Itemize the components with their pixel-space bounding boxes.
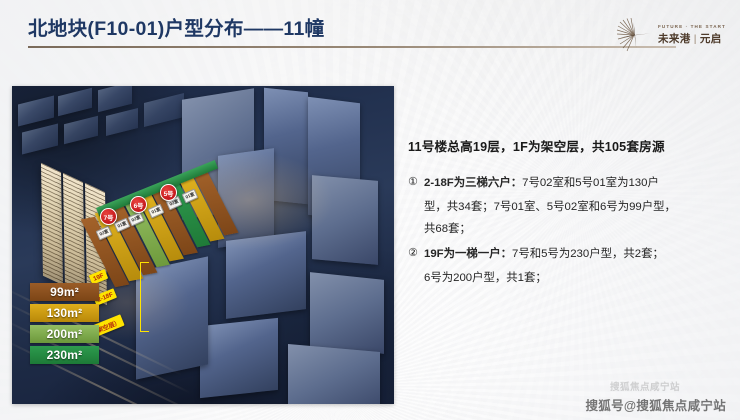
logo-english: FUTURE · THE START <box>658 24 726 29</box>
slide-root: 北地块(F10-01)户型分布——11幢 FUTURE · THE START <box>0 0 740 420</box>
bullet-body-2: 19F为一梯一户：7号和5号为230户型，共2套； <box>424 243 718 265</box>
content-headline: 11号楼总高19层，1F为架空层，共105套房源 <box>408 136 718 155</box>
logo-chinese-right: 元启 <box>700 33 722 45</box>
unit-area-legend: 99m² 130m² 200m² 230m² <box>30 283 99 364</box>
brand-logo: FUTURE · THE START 未来港|元启 <box>614 14 722 56</box>
bullet-text-1: 7号02室和5号01室为130户 <box>522 177 659 189</box>
watermark-main: 搜狐号@搜狐焦点咸宁站 <box>586 395 727 414</box>
logo-chinese-left: 未来港 <box>658 33 691 45</box>
legend-item-230: 230m² <box>30 346 99 364</box>
watermark-faint: 搜狐焦点咸宁站 <box>610 379 680 393</box>
bullet-marker-1: ① <box>408 172 424 193</box>
bullet-item-1: ① 2-18F为三梯六户：7号02室和5号01室为130户 <box>408 172 718 194</box>
highlight-tower <box>63 173 85 295</box>
highlight-tower <box>41 163 63 285</box>
starburst-icon <box>614 15 654 55</box>
bullet-body-1: 2-18F为三梯六户：7号02室和5号01室为130户 <box>424 172 718 194</box>
logo-chinese: 未来港|元启 <box>658 31 726 46</box>
bullet-marker-2: ② <box>408 243 424 264</box>
legend-item-200: 200m² <box>30 325 99 343</box>
floor-range-brace <box>140 262 149 332</box>
content-column: 11号楼总高19层，1F为架空层，共105套房源 ① 2-18F为三梯六户：7号… <box>408 136 718 289</box>
bullet-continuation-1b: 共68套； <box>408 218 718 240</box>
building-marker-6: 6号 <box>130 196 147 213</box>
building-marker-5: 5号 <box>160 184 177 201</box>
page-title: 北地块(F10-01)户型分布——11幢 <box>28 16 688 42</box>
building-marker-7: 7号 <box>100 208 117 225</box>
bullet-lead-2: 19F为一梯一户： <box>424 248 512 260</box>
legend-item-99: 99m² <box>30 283 99 301</box>
aerial-render-image: 02室 01室 02室 01室 02室 01室 7号 6号 5号 19F 2-1… <box>12 86 394 404</box>
bullet-continuation-2a: 6号为200户型，共1套； <box>408 267 718 289</box>
logo-separator: | <box>694 33 697 45</box>
bullet-continuation-1a: 型，共34套；7号01室、5号02室和6号为99户型， <box>408 196 718 218</box>
bullet-text-2: 7号和5号为230户型，共2套； <box>512 248 664 260</box>
title-block: 北地块(F10-01)户型分布——11幢 <box>28 16 688 48</box>
title-underline <box>28 46 676 48</box>
bullet-lead-1: 2-18F为三梯六户： <box>424 177 522 189</box>
bullet-item-2: ② 19F为一梯一户：7号和5号为230户型，共2套； <box>408 243 718 265</box>
legend-item-130: 130m² <box>30 304 99 322</box>
